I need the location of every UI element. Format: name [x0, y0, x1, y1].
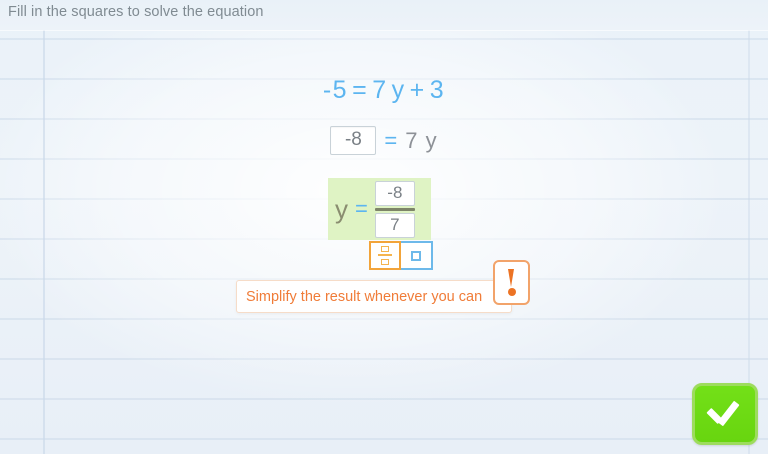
fraction-icon: [378, 246, 392, 265]
eq1-term-3: 3: [430, 76, 445, 104]
exclamation-icon: [507, 269, 516, 296]
answer-box-step1[interactable]: -8: [330, 126, 376, 155]
eq1-operator: +: [410, 76, 426, 104]
eq1-term-2: 7: [372, 76, 387, 104]
eq1-variable: y: [392, 76, 406, 104]
answer-box-denominator[interactable]: 7: [375, 213, 415, 238]
header-bar: Fill in the squares to solve the equatio…: [0, 0, 768, 30]
notebook-margin-rule: [43, 0, 45, 454]
square-icon: [411, 251, 421, 261]
fraction-bar: [375, 208, 415, 211]
solution-equals: =: [355, 196, 368, 222]
eq1-equals: =: [352, 76, 368, 104]
checkmark-icon: [708, 401, 742, 427]
equation-line-original: -5=7y+3: [0, 76, 768, 105]
hint-badge: [493, 260, 530, 305]
exercise-canvas: Fill in the squares to solve the equatio…: [0, 0, 768, 454]
input-toolbar: [369, 241, 433, 270]
equation-line-step1: -8 = 7 y: [0, 126, 768, 155]
hint-tooltip: Simplify the result whenever you can: [236, 280, 512, 313]
hint-text: Simplify the result whenever you can: [237, 289, 482, 305]
answer-box-numerator[interactable]: -8: [375, 181, 415, 206]
solution-fraction: -8 7: [375, 181, 415, 238]
solution-variable: y: [335, 194, 348, 225]
fraction-tool-button[interactable]: [369, 241, 401, 270]
submit-button[interactable]: [692, 383, 758, 445]
step1-equals: =: [384, 128, 397, 154]
eq1-term-1: -5: [323, 76, 348, 104]
square-tool-button[interactable]: [401, 241, 433, 270]
step1-right-side: 7 y: [405, 128, 437, 154]
equation-line-solution: y = -8 7: [328, 178, 431, 240]
page-title: Fill in the squares to solve the equatio…: [8, 4, 264, 20]
